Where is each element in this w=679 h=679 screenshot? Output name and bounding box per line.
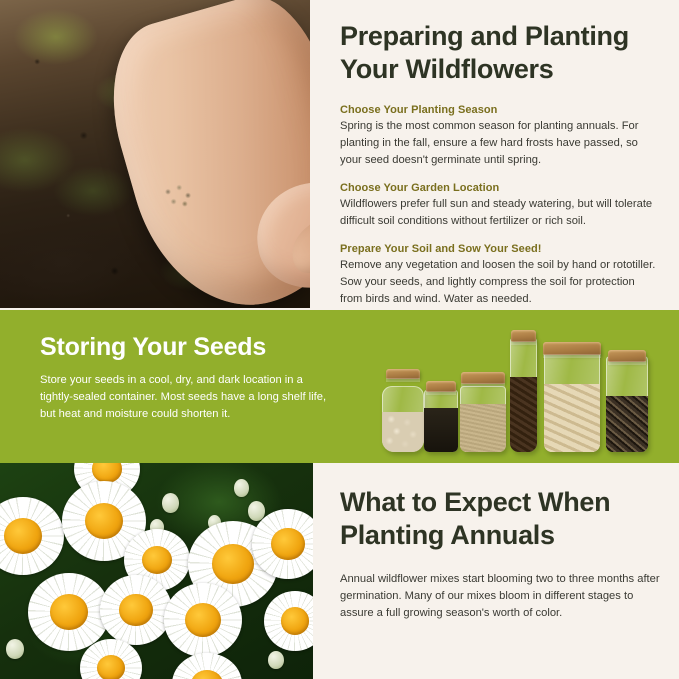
subheading-planting-season: Choose Your Planting Season bbox=[340, 104, 660, 116]
storing-text-column: Storing Your Seeds Store your seeds in a… bbox=[40, 334, 336, 423]
jar-fill-tall-tube bbox=[510, 377, 537, 452]
block-garden-location: Choose Your Garden Location Wildflowers … bbox=[340, 182, 660, 230]
hand-planting-seeds-image bbox=[0, 0, 310, 308]
section-what-to-expect: What to Expect When Planting Annuals Ann… bbox=[0, 463, 679, 679]
block-prepare-soil: Prepare Your Soil and Sow Your Seed! Rem… bbox=[340, 243, 660, 308]
expect-title: What to Expect When Planting Annuals bbox=[340, 463, 660, 553]
jar-striped-seeds bbox=[606, 356, 648, 452]
block-planting-season: Choose Your Planting Season Spring is th… bbox=[340, 104, 660, 169]
body-planting-season: Spring is the most common season for pla… bbox=[340, 118, 660, 169]
jar-dark-seeds bbox=[424, 390, 458, 452]
daisy-flower bbox=[100, 575, 172, 645]
jar-tall-tube bbox=[510, 338, 537, 452]
cork-lid-tall-tube bbox=[511, 330, 536, 342]
seed-jars-image bbox=[378, 324, 664, 452]
daisy-center bbox=[4, 518, 42, 554]
storing-body: Store your seeds in a cool, dry, and dar… bbox=[40, 372, 336, 423]
cork-lid-wide-flat-seeds bbox=[543, 342, 601, 355]
flower-bud bbox=[234, 479, 249, 497]
expect-body: Annual wildflower mixes start blooming t… bbox=[340, 571, 660, 622]
jar-wide-flat-seeds bbox=[544, 348, 600, 452]
subheading-prepare-soil: Prepare Your Soil and Sow Your Seed! bbox=[340, 243, 660, 255]
flower-bud bbox=[6, 639, 24, 659]
seeds-in-hand bbox=[160, 182, 200, 210]
body-prepare-soil: Remove any vegetation and loosen the soi… bbox=[340, 257, 660, 308]
daisy-center bbox=[97, 655, 126, 679]
daisy-center bbox=[271, 528, 304, 560]
flower-bud bbox=[268, 651, 284, 669]
cork-lid-pale-beans bbox=[386, 369, 420, 379]
daisy-flowers-image bbox=[0, 463, 313, 679]
planting-text-column: Preparing and Planting Your Wildflowers … bbox=[340, 0, 660, 310]
section-preparing-and-planting: Preparing and Planting Your Wildflowers … bbox=[0, 0, 679, 310]
daisy-center bbox=[50, 594, 88, 630]
daisy-flower bbox=[28, 573, 110, 651]
jar-fill-pale-beans bbox=[382, 412, 424, 452]
expect-text-column: What to Expect When Planting Annuals Ann… bbox=[340, 463, 660, 622]
cork-lid-dark-seeds bbox=[426, 381, 456, 392]
daisy-flower bbox=[164, 583, 242, 657]
jar-fill-fine-grain bbox=[460, 404, 506, 452]
jar-pale-beans bbox=[382, 386, 424, 452]
cork-lid-fine-grain bbox=[461, 372, 505, 384]
daisy-center bbox=[185, 603, 221, 637]
subheading-garden-location: Choose Your Garden Location bbox=[340, 182, 660, 194]
jar-fill-dark-seeds bbox=[424, 408, 458, 452]
flower-bud bbox=[162, 493, 179, 513]
page-title: Preparing and Planting Your Wildflowers bbox=[340, 0, 660, 87]
body-garden-location: Wildflowers prefer full sun and steady w… bbox=[340, 196, 660, 230]
storing-title: Storing Your Seeds bbox=[40, 334, 336, 362]
infographic-page: Preparing and Planting Your Wildflowers … bbox=[0, 0, 679, 679]
section-storing-your-seeds: Storing Your Seeds Store your seeds in a… bbox=[0, 310, 679, 463]
jar-fill-wide-flat-seeds bbox=[544, 384, 600, 452]
daisy-center bbox=[212, 544, 253, 584]
cork-lid-striped-seeds bbox=[608, 350, 646, 362]
daisy-center bbox=[119, 594, 152, 626]
jar-fill-striped-seeds bbox=[606, 396, 648, 452]
daisy-center bbox=[281, 607, 310, 635]
jar-fine-grain bbox=[460, 386, 506, 452]
